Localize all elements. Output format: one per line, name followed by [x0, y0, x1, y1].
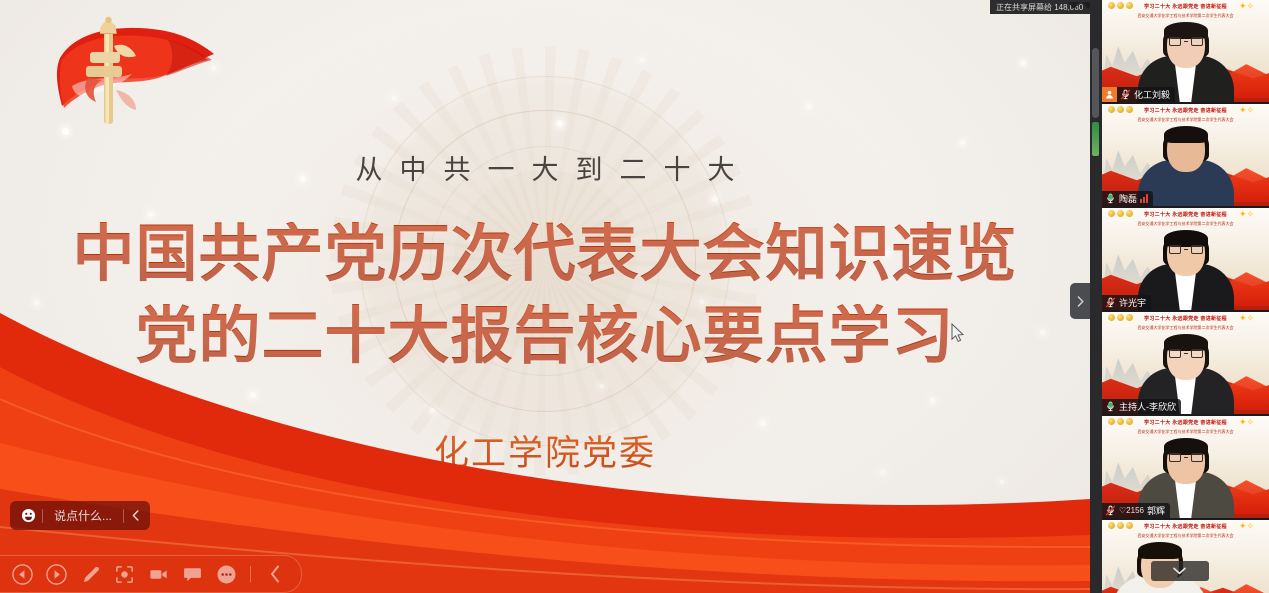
video-camera-button[interactable]: [146, 562, 170, 586]
participant-name: 主持人-李欣欣: [1119, 400, 1176, 413]
red-flag-torch-logo: [28, 14, 218, 124]
signal-strength-icon: [1140, 194, 1148, 203]
smiley-icon[interactable]: [14, 501, 42, 530]
slide-kicker: 从中共一大到二十大: [0, 148, 1090, 187]
participant-nameplate: ♡2156郭辉: [1102, 503, 1170, 518]
mic-muted-icon: [1120, 89, 1131, 101]
slide-subtitle: 化工学院党委: [0, 425, 1090, 476]
prev-slide-button[interactable]: [10, 562, 34, 586]
participant-tile[interactable]: ✦✧学习二十大 永远跟党走 奋进新征程西安交通大学化学工程与技术学院第二次学生代…: [1102, 104, 1269, 206]
participant-name: 陶磊: [1119, 192, 1137, 205]
toolbar-divider: [250, 566, 251, 582]
slide-heading-line2: 党的二十大报告核心要点学习: [0, 304, 1090, 371]
mic-muted-icon: [1105, 505, 1116, 517]
participant-nameplate: 陶磊: [1102, 191, 1153, 206]
panel-scrollbar-thumb[interactable]: [1092, 48, 1099, 118]
participant-tiles: ✦✧学习二十大 永远跟党走 奋进新征程西安交通大学化学工程与技术学院第二次学生代…: [1102, 0, 1269, 593]
participant-nameplate: 化工刘毅: [1117, 87, 1175, 102]
next-slide-button[interactable]: [44, 562, 68, 586]
mic-on-icon: [1105, 401, 1116, 413]
presenter-toolbar[interactable]: [0, 555, 302, 593]
chat-collapse-chevron-left-icon[interactable]: [124, 501, 146, 530]
more-options-button[interactable]: [214, 562, 238, 586]
participant-video-feed: [1102, 520, 1269, 593]
chat-speech-bubble-button[interactable]: [180, 562, 204, 586]
chevron-right-icon: [1077, 296, 1084, 307]
meeting-screen: 从中共一大到二十大 中国共产党历次代表大会知识速览 党的二十大报告核心要点学习 …: [0, 0, 1269, 593]
shared-screen-stage[interactable]: 从中共一大到二十大 中国共产党历次代表大会知识速览 党的二十大报告核心要点学习 …: [0, 0, 1090, 593]
participant-name: 化工刘毅: [1134, 88, 1170, 101]
user-avatar-icon: [1102, 87, 1117, 102]
participant-tile[interactable]: ✦✧学习二十大 永远跟党走 奋进新征程西安交通大学化学工程与技术学院第二次学生代…: [1102, 416, 1269, 518]
laser-pointer-button[interactable]: [112, 562, 136, 586]
chat-input-bar[interactable]: 说点什么...: [10, 501, 150, 530]
chat-input-placeholder[interactable]: 说点什么...: [43, 507, 123, 524]
volume-level-meter: [1092, 122, 1099, 156]
collapse-toolbar-chevron-left-icon[interactable]: [263, 562, 287, 586]
participant-video-panel: ✦✧学习二十大 永远跟党走 奋进新征程西安交通大学化学工程与技术学院第二次学生代…: [1090, 0, 1269, 593]
annotate-pen-button[interactable]: [78, 562, 102, 586]
participant-name: 郭辉: [1147, 504, 1165, 517]
like-count: ♡2156: [1119, 506, 1144, 515]
participant-nameplate: 主持人-李欣欣: [1102, 399, 1181, 414]
panel-scrollbar[interactable]: [1090, 0, 1102, 593]
panel-collapse-handle[interactable]: [1070, 283, 1090, 319]
chevron-down-icon: [1173, 567, 1186, 575]
mic-on-icon: [1105, 193, 1116, 205]
participant-nameplate: 许光宇: [1102, 295, 1151, 310]
participant-tile[interactable]: ✦✧学习二十大 永远跟党走 奋进新征程西安交通大学化学工程与技术学院第二次学生代…: [1102, 0, 1269, 102]
participant-tile[interactable]: ✦✧学习二十大 永远跟党走 奋进新征程西安交通大学化学工程与技术学院第二次学生代…: [1102, 312, 1269, 414]
mic-muted-icon: [1105, 297, 1116, 309]
slide-heading-line1: 中国共产党历次代表大会知识速览: [0, 222, 1090, 289]
presentation-slide: 从中共一大到二十大 中国共产党历次代表大会知识速览 党的二十大报告核心要点学习 …: [0, 0, 1090, 593]
scroll-down-button[interactable]: [1151, 561, 1209, 581]
participant-tile[interactable]: ✦✧学习二十大 永远跟党走 奋进新征程西安交通大学化学工程与技术学院第二次学生代…: [1102, 520, 1269, 593]
participant-name: 许光宇: [1119, 296, 1146, 309]
participant-tile[interactable]: ✦✧学习二十大 永远跟党走 奋进新征程西安交通大学化学工程与技术学院第二次学生代…: [1102, 208, 1269, 310]
